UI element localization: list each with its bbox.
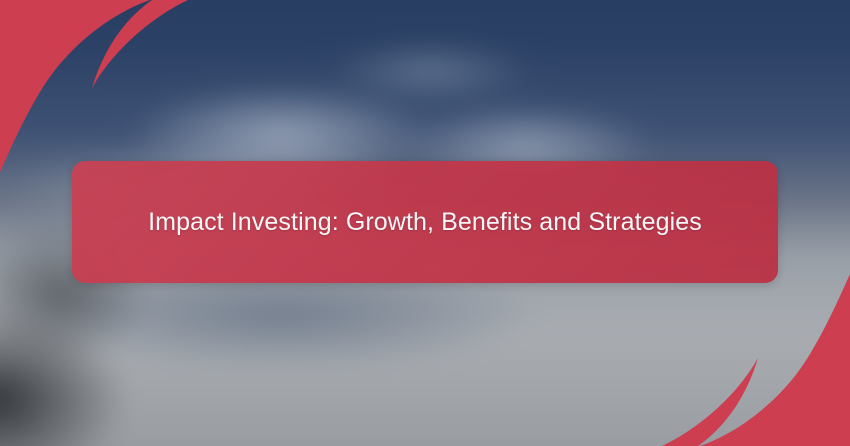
- title-banner: Impact Investing: Growth, Benefits and S…: [72, 161, 778, 283]
- title-card-screenshot: Impact Investing: Growth, Benefits and S…: [0, 0, 850, 446]
- page-title: Impact Investing: Growth, Benefits and S…: [148, 205, 702, 239]
